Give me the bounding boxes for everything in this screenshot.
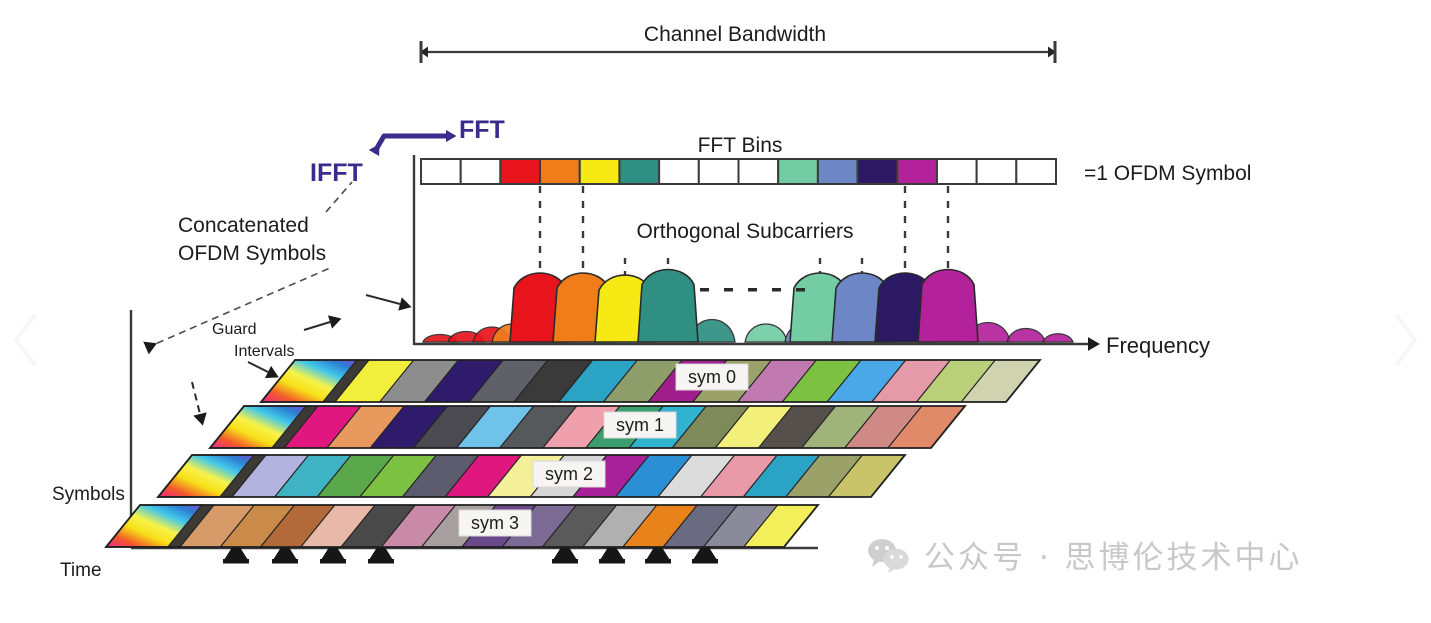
ofdm-diagram-stage: Channel Bandwidth FFT IFFT FFT Bins =1 O… xyxy=(0,0,1431,623)
channel-bandwidth-label: Channel Bandwidth xyxy=(644,23,826,46)
fft-bins-group xyxy=(421,159,1056,184)
ifft-label: IFFT xyxy=(310,159,363,187)
symbol-row xyxy=(158,455,905,497)
symbol-row xyxy=(261,360,1040,402)
symbol-row xyxy=(210,406,965,448)
fft-bin xyxy=(858,159,898,184)
subcarrier-sidelobe xyxy=(1007,329,1045,343)
concatenated-label-line1: Concatenated xyxy=(178,214,309,237)
ellipsis-dot xyxy=(724,288,733,292)
ellipsis-dot xyxy=(748,288,757,292)
channel-bandwidth-measure: Channel Bandwidth xyxy=(421,23,1055,63)
subcarrier-lobes-group xyxy=(423,270,1073,343)
fft-bin xyxy=(421,159,461,184)
symbol-tag-label: sym 0 xyxy=(688,367,736,387)
guard-label-line1: Guard xyxy=(212,321,256,338)
concatenated-label-line2: OFDM Symbols xyxy=(178,242,326,265)
fft-bin xyxy=(580,159,620,184)
one-ofdm-symbol-label: =1 OFDM Symbol xyxy=(1084,162,1251,185)
fft-bin xyxy=(739,159,779,184)
subcarrier-main-lobe xyxy=(638,270,698,343)
fft-bin xyxy=(1016,159,1056,184)
fft-bin xyxy=(659,159,699,184)
symbols-axis-label: Symbols xyxy=(52,484,125,505)
guard-label-line2: Intervals xyxy=(234,343,294,360)
carousel-next-button[interactable] xyxy=(1389,310,1423,370)
carousel-prev-button[interactable] xyxy=(8,310,42,370)
fft-bin xyxy=(699,159,739,184)
fft-bin xyxy=(937,159,977,184)
chevron-right-icon xyxy=(1389,310,1423,370)
axis-tick-base xyxy=(552,559,578,564)
axis-tick-base xyxy=(368,559,394,564)
ofdm-structure-diagram: Channel Bandwidth FFT IFFT FFT Bins =1 O… xyxy=(0,0,1431,623)
orthogonal-subcarriers-label: Orthogonal Subcarriers xyxy=(636,220,853,243)
subcarrier-sidelobe xyxy=(1043,334,1073,342)
ellipsis-dot xyxy=(796,288,805,292)
axis-tick-base xyxy=(645,559,671,564)
fft-bin xyxy=(540,159,580,184)
fft-bin xyxy=(818,159,858,184)
fft-bin xyxy=(461,159,501,184)
subcarrier-main-lobe xyxy=(918,270,978,343)
fft-bins-bar: FFT Bins =1 OFDM Symbol xyxy=(421,134,1251,185)
fft-bin xyxy=(778,159,818,184)
fft-bin xyxy=(977,159,1017,184)
time-axis-label: Time xyxy=(60,560,102,581)
fft-bins-label: FFT Bins xyxy=(698,134,783,157)
symbol-rows-group xyxy=(106,360,1040,547)
axis-tick-base xyxy=(320,559,346,564)
symbol-tag-label: sym 1 xyxy=(616,415,664,435)
axis-tick-base xyxy=(692,559,718,564)
fft-label: FFT xyxy=(459,116,505,144)
symbol-tag-label: sym 3 xyxy=(471,513,519,533)
axis-tick-base xyxy=(223,559,249,564)
fft-bin xyxy=(500,159,540,184)
subcarrier-sidelobe xyxy=(745,324,787,342)
axis-tick-base xyxy=(272,559,298,564)
frequency-axis-label: Frequency xyxy=(1106,333,1210,358)
concatenated-callout: Concatenated OFDM Symbols xyxy=(146,182,400,348)
ellipsis-dot xyxy=(700,288,709,292)
subcarrier-ellipsis xyxy=(700,288,805,292)
fft-ifft-bidirectional-arrow xyxy=(374,136,446,153)
ellipsis-dot xyxy=(772,288,781,292)
fft-bin xyxy=(619,159,659,184)
axis-tick-base xyxy=(599,559,625,564)
fft-bin xyxy=(897,159,937,184)
chevron-left-icon xyxy=(8,310,42,370)
symbol-tag-label: sym 2 xyxy=(545,464,593,484)
